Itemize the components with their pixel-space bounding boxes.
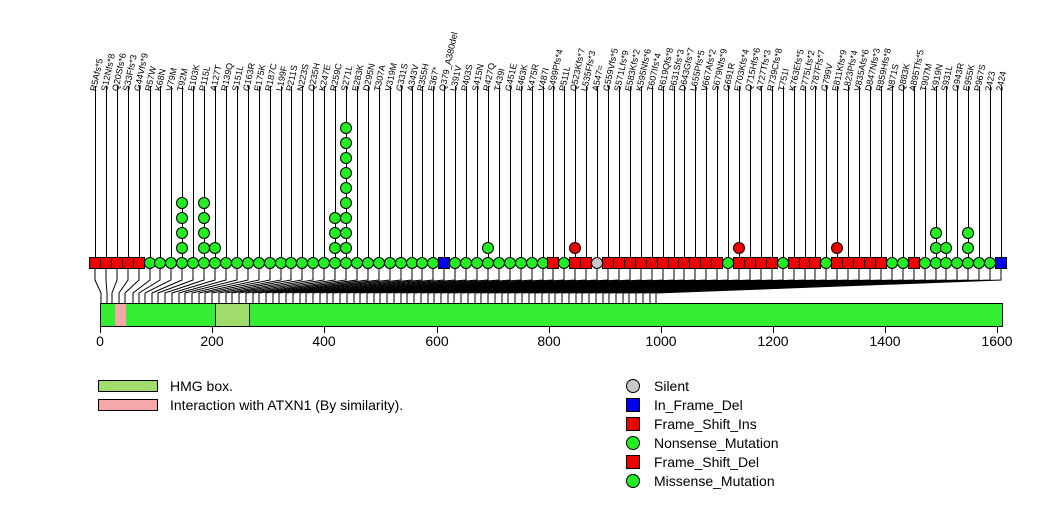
mutation-legend-label: Frame_Shift_Del	[654, 454, 759, 470]
mutation-stem	[95, 97, 96, 269]
mutation-stem	[401, 97, 402, 269]
label-tick	[903, 86, 904, 97]
connector-line	[125, 269, 139, 303]
mutation-type-swatch	[626, 455, 640, 469]
label-tick	[794, 86, 795, 97]
protein-domain[interactable]	[215, 304, 250, 326]
mutation-marker[interactable]	[340, 122, 352, 134]
mutation-stem	[477, 97, 478, 269]
domain-legend-label: Interaction with ATXN1 (By similarity).	[170, 397, 403, 413]
mutation-stem	[139, 97, 140, 269]
axis-tick-label: 200	[200, 333, 223, 349]
mutation-marker[interactable]	[340, 242, 352, 254]
mutation-legend-item[interactable]: In_Frame_Del	[626, 395, 779, 414]
label-tick	[291, 86, 292, 97]
mutation-marker[interactable]	[340, 152, 352, 164]
label-tick	[259, 86, 260, 97]
mutation-marker[interactable]	[995, 257, 1007, 269]
domain-color-swatch	[98, 380, 158, 392]
label-tick	[193, 86, 194, 97]
label-tick	[979, 86, 980, 97]
mutation-marker[interactable]	[198, 227, 210, 239]
mutation-stem	[302, 97, 303, 269]
axis-tick-label: 1600	[981, 333, 1012, 349]
label-tick	[488, 86, 489, 97]
label-tick	[139, 86, 140, 97]
mutation-legend-item[interactable]: Frame_Shift_Ins	[626, 414, 779, 433]
mutation-stem	[543, 97, 544, 269]
label-tick	[739, 86, 740, 97]
label-tick	[957, 86, 958, 97]
mutation-stem	[859, 97, 860, 269]
mutation-stem	[455, 97, 456, 269]
label-tick	[750, 86, 751, 97]
domain-color-swatch	[98, 399, 158, 411]
label-tick	[477, 86, 478, 97]
axis-tick-label: 600	[425, 333, 448, 349]
connector-line	[106, 269, 107, 303]
mutation-stem	[521, 97, 522, 269]
mutation-stem	[881, 97, 882, 269]
mutation-stem	[597, 97, 598, 269]
mutation-stem	[193, 97, 194, 269]
label-tick	[412, 86, 413, 97]
label-tick	[717, 86, 718, 97]
axis-tick-label: 0	[96, 333, 104, 349]
domain-legend-item[interactable]: HMG box.	[98, 376, 403, 395]
mutation-marker[interactable]	[340, 197, 352, 209]
protein-domain[interactable]	[115, 304, 126, 326]
mutation-stem	[805, 97, 806, 269]
label-tick	[597, 86, 598, 97]
label-tick	[171, 86, 172, 97]
connector-line	[112, 269, 117, 303]
mutation-stem	[281, 97, 282, 269]
label-tick	[728, 86, 729, 97]
mutation-stem	[532, 97, 533, 269]
label-tick	[499, 86, 500, 97]
label-tick	[772, 86, 773, 97]
mutation-stem	[237, 97, 238, 269]
mutation-legend-label: Frame_Shift_Ins	[654, 416, 757, 432]
label-tick	[826, 86, 827, 97]
mutation-stem	[815, 97, 816, 269]
label-tick	[575, 86, 576, 97]
mutation-stem	[564, 97, 565, 269]
label-tick	[619, 86, 620, 97]
label-tick	[914, 86, 915, 97]
label-tick	[390, 86, 391, 97]
label-tick	[313, 86, 314, 97]
label-tick	[848, 86, 849, 97]
mutation-marker[interactable]	[962, 227, 974, 239]
label-tick	[543, 86, 544, 97]
label-tick	[936, 86, 937, 97]
label-tick	[946, 86, 947, 97]
mutation-stem	[510, 97, 511, 269]
label-tick	[466, 86, 467, 97]
mutation-type-swatch	[626, 474, 640, 488]
axis-tick-label: 1000	[645, 333, 676, 349]
mutation-marker[interactable]	[176, 212, 188, 224]
label-tick	[335, 86, 336, 97]
mutation-stem	[313, 97, 314, 269]
connector-fan	[0, 269, 1047, 303]
mutation-stem	[150, 97, 151, 269]
label-tick	[564, 86, 565, 97]
label-tick	[346, 86, 347, 97]
mutation-stem	[957, 97, 958, 269]
label-tick	[1001, 86, 1002, 97]
label-tick	[455, 86, 456, 97]
mutation-marker[interactable]	[340, 167, 352, 179]
mutation-stem	[433, 97, 434, 269]
label-tick	[237, 86, 238, 97]
mutation-stem	[728, 97, 729, 269]
mutation-stem	[674, 97, 675, 269]
label-tick	[160, 86, 161, 97]
mutation-stem	[903, 97, 904, 269]
label-tick	[106, 86, 107, 97]
label-tick	[215, 86, 216, 97]
label-tick	[270, 86, 271, 97]
label-tick	[870, 86, 871, 97]
axis-tick-label: 800	[537, 333, 560, 349]
mutation-stem	[226, 97, 227, 269]
label-tick	[837, 86, 838, 97]
mutation-stem	[848, 97, 849, 269]
mutation-legend-label: Missense_Mutation	[654, 473, 775, 489]
mutation-marker[interactable]	[482, 242, 494, 254]
label-tick	[815, 86, 816, 97]
mutation-stem	[706, 97, 707, 269]
label-tick	[281, 86, 282, 97]
mutation-type-swatch	[626, 436, 640, 450]
mutation-stem	[422, 97, 423, 269]
label-tick	[379, 86, 380, 97]
mutation-stem	[259, 97, 260, 269]
axis-tick-label: 1200	[757, 333, 788, 349]
label-tick	[150, 86, 151, 97]
mutation-stem	[717, 97, 718, 269]
mutation-stem	[379, 97, 380, 269]
mutation-stem	[619, 97, 620, 269]
mutation-marker[interactable]	[569, 242, 581, 254]
label-tick	[630, 86, 631, 97]
mutation-type-legend: SilentIn_Frame_DelFrame_Shift_InsNonsens…	[626, 376, 779, 490]
mutation-legend-item[interactable]: Nonsense_Mutation	[626, 433, 779, 452]
mutation-stem	[772, 97, 773, 269]
mutation-stem	[106, 97, 107, 269]
label-tick	[95, 86, 96, 97]
mutation-legend-label: In_Frame_Del	[654, 397, 743, 413]
label-tick	[357, 86, 358, 97]
mutation-stem	[990, 97, 991, 269]
mutation-stem	[1001, 97, 1002, 269]
connector-line	[133, 269, 150, 303]
label-tick	[182, 86, 183, 97]
mutation-marker[interactable]	[831, 242, 843, 254]
mutation-marker[interactable]	[176, 197, 188, 209]
label-tick	[586, 86, 587, 97]
mutation-marker[interactable]	[340, 137, 352, 149]
mutation-marker[interactable]	[962, 242, 974, 254]
label-tick	[968, 86, 969, 97]
mutation-marker[interactable]	[940, 242, 952, 254]
domain-legend: HMG box.Interaction with ATXN1 (By simil…	[98, 376, 403, 414]
lollipop-plot: R5Afs*5S12Nfs*8Q20Sfs*6S33Ffs*3G44Vfs*9R…	[0, 0, 1047, 524]
mutation-marker[interactable]	[340, 212, 352, 224]
connector-lines	[0, 269, 1047, 303]
label-tick	[553, 86, 554, 97]
label-tick	[302, 86, 303, 97]
label-tick	[925, 86, 926, 97]
label-tick	[805, 86, 806, 97]
mutation-stem	[291, 97, 292, 269]
mutation-stem	[870, 97, 871, 269]
mutation-marker[interactable]	[340, 182, 352, 194]
label-tick	[422, 86, 423, 97]
mutation-stem	[783, 97, 784, 269]
mutation-stem	[630, 97, 631, 269]
mutation-stem	[914, 97, 915, 269]
mutation-stem	[117, 97, 118, 269]
mutation-marker[interactable]	[209, 242, 221, 254]
connector-line	[119, 269, 128, 303]
label-tick	[761, 86, 762, 97]
mutation-legend-label: Nonsense_Mutation	[654, 435, 779, 451]
axis-tick-label: 1400	[869, 333, 900, 349]
label-tick	[652, 86, 653, 97]
label-tick	[663, 86, 664, 97]
mutation-legend-item[interactable]: Silent	[626, 376, 779, 395]
mutation-stem	[128, 97, 129, 269]
mutation-stem	[248, 97, 249, 269]
label-tick	[324, 86, 325, 97]
mutation-stem	[750, 97, 751, 269]
mutation-marker[interactable]	[176, 227, 188, 239]
mutation-stem	[586, 97, 587, 269]
label-tick	[532, 86, 533, 97]
label-tick	[859, 86, 860, 97]
mutation-legend-item[interactable]: Frame_Shift_Del	[626, 452, 779, 471]
label-tick	[990, 86, 991, 97]
mutation-marker[interactable]	[930, 227, 942, 239]
label-tick	[783, 86, 784, 97]
label-tick	[608, 86, 609, 97]
mutation-stem	[160, 97, 161, 269]
mutation-type-swatch	[626, 379, 640, 393]
mutation-stem	[608, 97, 609, 269]
mutation-stem	[444, 97, 445, 269]
connector-line	[158, 269, 193, 303]
label-tick	[226, 86, 227, 97]
mutation-stem	[270, 97, 271, 269]
mutation-stem	[892, 97, 893, 269]
mutation-label-row: R5Afs*5S12Nfs*8Q20Sfs*6S33Ffs*3G44Vfs*9R…	[0, 0, 1047, 92]
mutation-stem	[761, 97, 762, 269]
mutation-marker[interactable]	[198, 197, 210, 209]
label-tick	[706, 86, 707, 97]
mutation-stem	[499, 97, 500, 269]
mutation-stem	[684, 97, 685, 269]
label-tick	[204, 86, 205, 97]
mutation-stem	[695, 97, 696, 269]
mutation-stem	[641, 97, 642, 269]
label-tick	[368, 86, 369, 97]
mutation-stem	[553, 97, 554, 269]
mutation-legend-label: Silent	[654, 378, 689, 394]
mutation-stem	[368, 97, 369, 269]
mutation-stem	[324, 97, 325, 269]
label-tick	[521, 86, 522, 97]
mutation-type-swatch	[626, 417, 640, 431]
label-tick	[433, 86, 434, 97]
mutation-stem	[171, 97, 172, 269]
mutation-stem	[390, 97, 391, 269]
mutation-stem	[794, 97, 795, 269]
axis-tick-label: 400	[312, 333, 335, 349]
domain-legend-label: HMG box.	[170, 378, 233, 394]
connector-line	[95, 269, 101, 303]
label-tick	[248, 86, 249, 97]
domain-legend-item[interactable]: Interaction with ATXN1 (By similarity).	[98, 395, 403, 414]
mutation-stem	[652, 97, 653, 269]
mutation-marker[interactable]	[198, 212, 210, 224]
mutation-stem	[979, 97, 980, 269]
mutation-marker-area	[0, 97, 1047, 269]
label-tick	[444, 86, 445, 97]
label-tick	[674, 86, 675, 97]
label-tick	[117, 86, 118, 97]
label-tick	[684, 86, 685, 97]
label-tick	[695, 86, 696, 97]
label-tick	[641, 86, 642, 97]
mutation-stem	[663, 97, 664, 269]
mutation-stem	[826, 97, 827, 269]
mutation-marker[interactable]	[340, 227, 352, 239]
label-tick	[401, 86, 402, 97]
mutation-legend-item[interactable]: Missense_Mutation	[626, 471, 779, 490]
label-tick	[892, 86, 893, 97]
mutation-marker[interactable]	[733, 242, 745, 254]
mutation-stem	[412, 97, 413, 269]
mutation-stem	[357, 97, 358, 269]
label-tick	[510, 86, 511, 97]
protein-track: 02004006008001000120014001600	[0, 303, 1047, 355]
mutation-stem	[466, 97, 467, 269]
mutation-stem	[925, 97, 926, 269]
mutation-marker[interactable]	[176, 242, 188, 254]
label-tick	[881, 86, 882, 97]
label-tick	[128, 86, 129, 97]
mutation-type-swatch	[626, 398, 640, 412]
